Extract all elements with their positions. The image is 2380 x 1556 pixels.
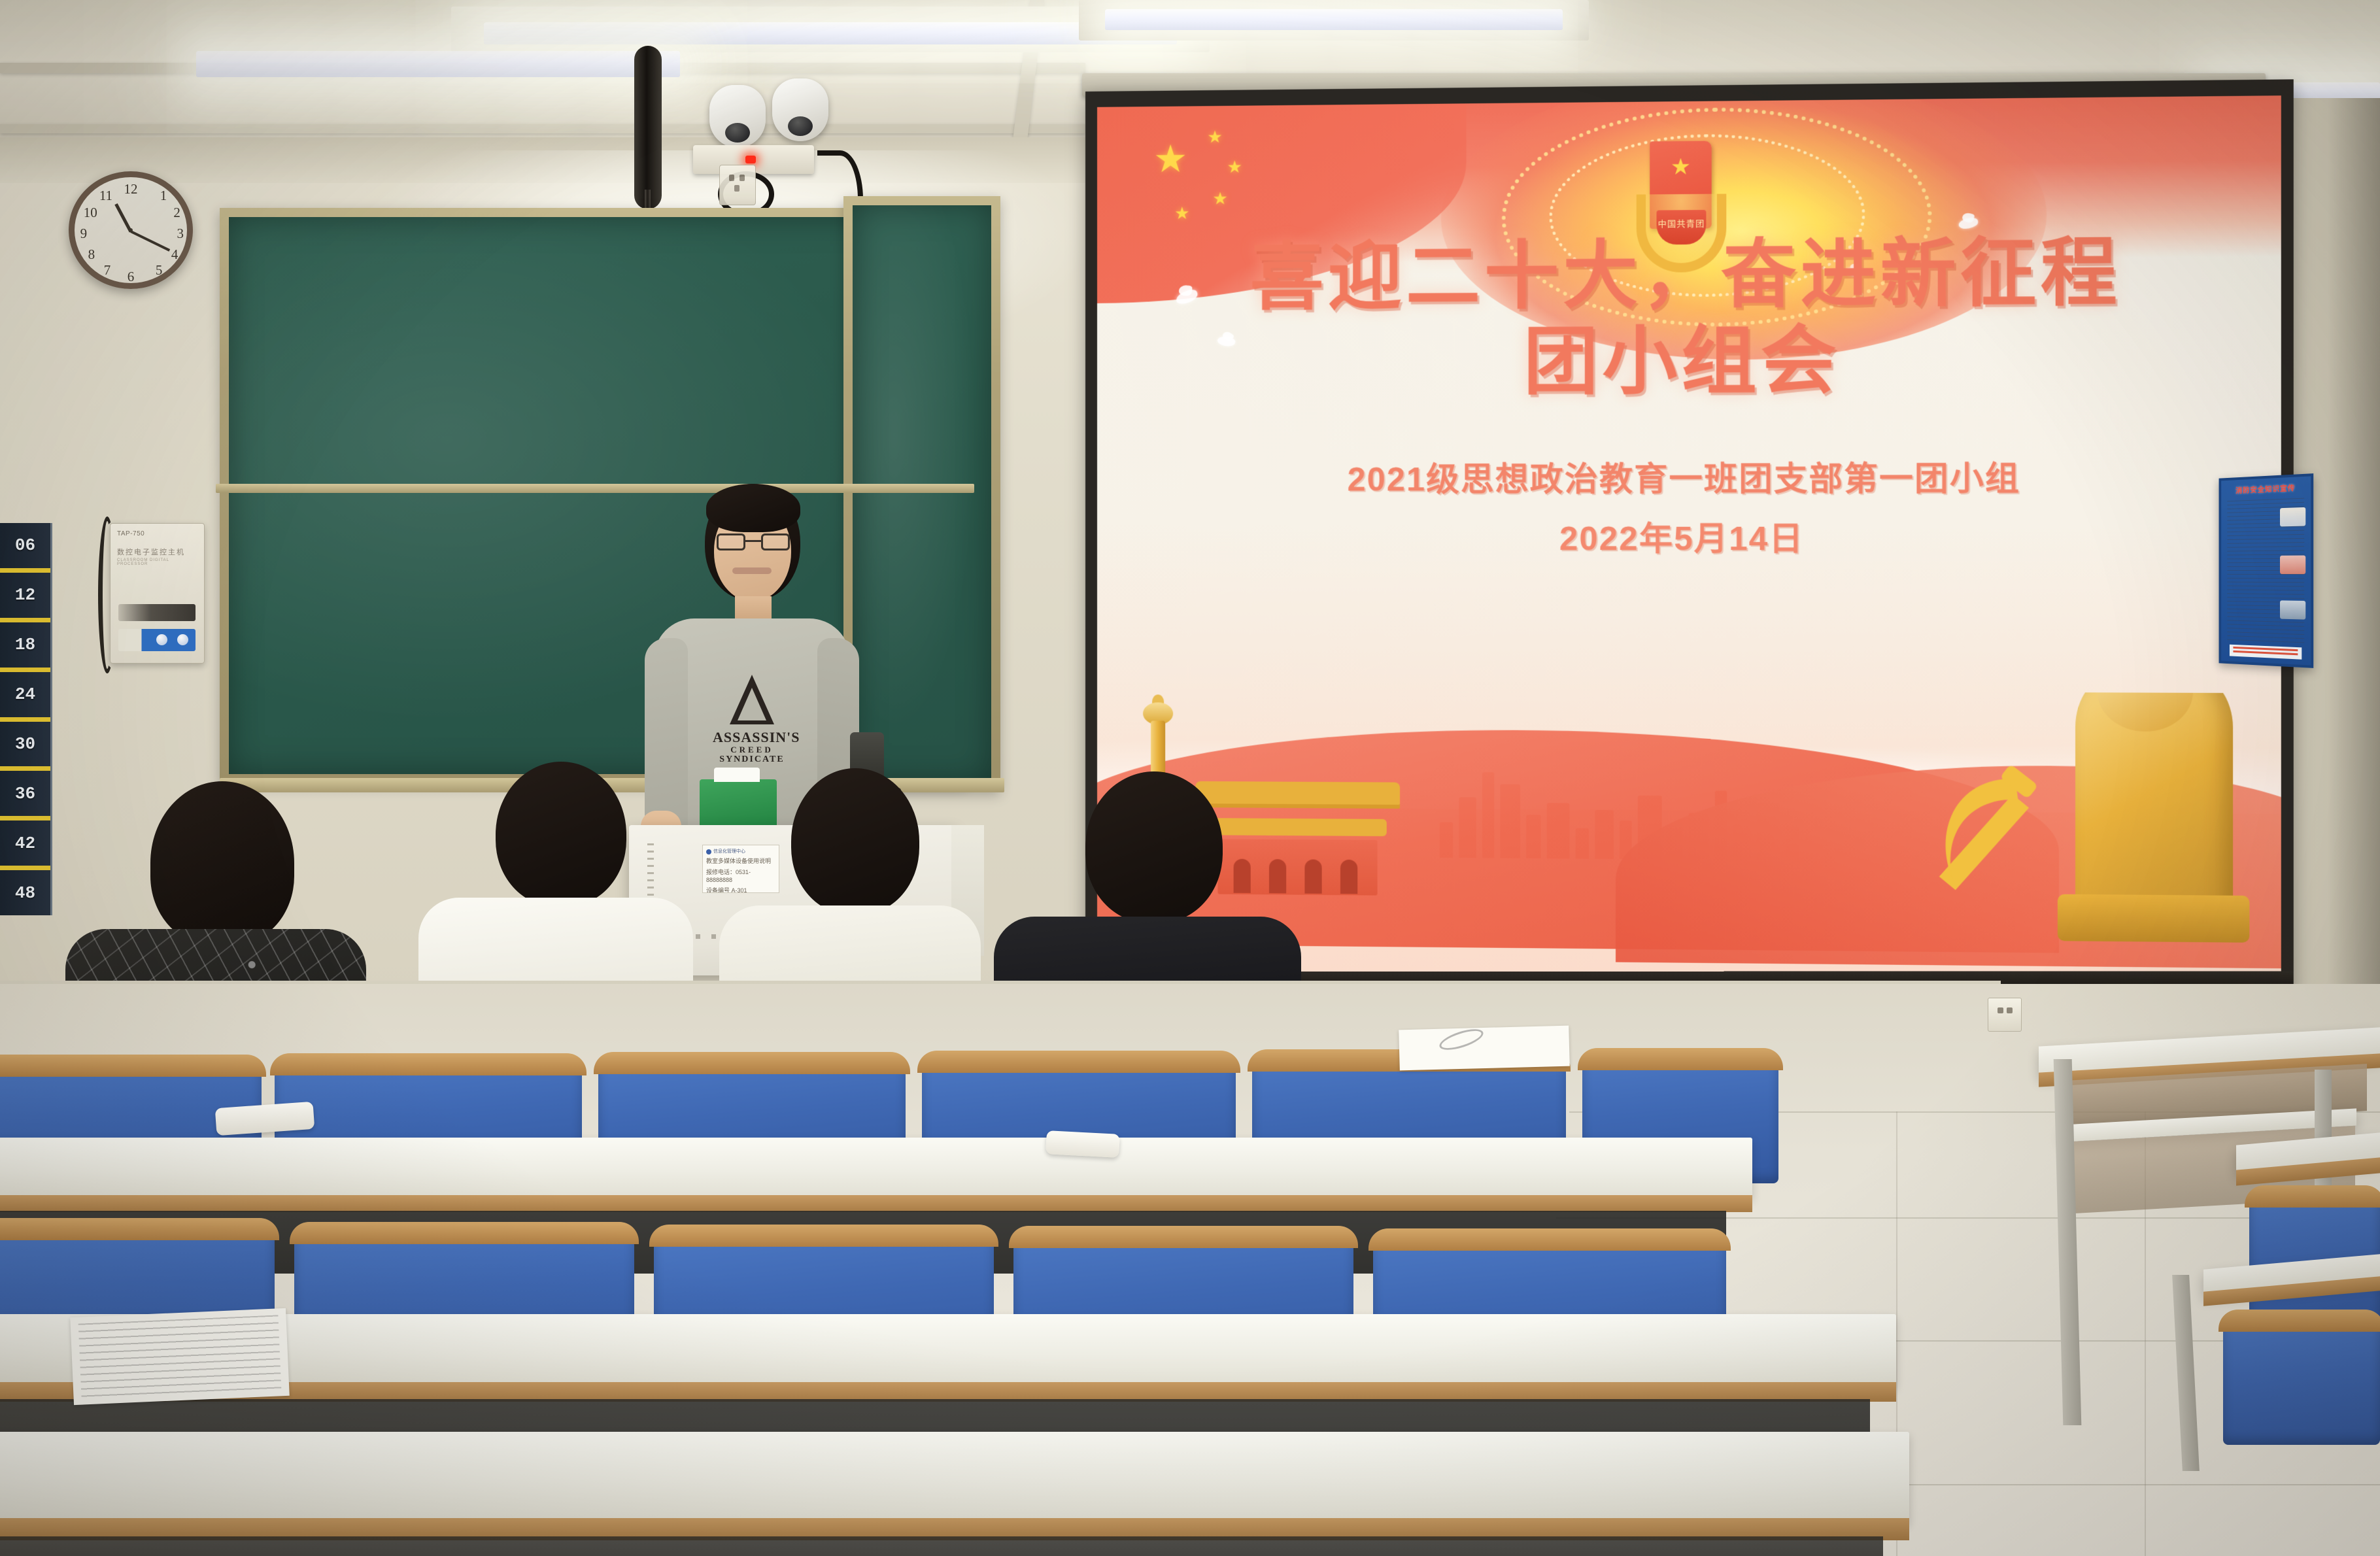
seat-trim xyxy=(2218,1310,2380,1332)
av-wall-panel[interactable]: TAP-750 数控电子监控主机 CLASSROOM DIGITAL PROCE… xyxy=(110,523,205,664)
flag-big-star-icon: ★ xyxy=(1153,141,1187,179)
seat-number: 36 xyxy=(0,771,50,820)
blackboard-middle xyxy=(843,196,1000,791)
presenter-hair-front xyxy=(706,484,800,532)
power-outlet xyxy=(719,165,756,205)
clock-numeral: 10 xyxy=(84,205,97,221)
slide-date: 2022年5月14日 xyxy=(1097,512,2281,560)
audience-1-head xyxy=(150,781,294,945)
panel-model-label: TAP-750 xyxy=(117,530,197,537)
clock-numeral: 4 xyxy=(171,246,178,263)
safety-poster: 消防安全知识宣传 xyxy=(2219,473,2314,668)
desk-row-1-top xyxy=(0,1138,1752,1198)
wall-clock: 12 1 2 3 4 5 6 7 8 9 10 11 xyxy=(69,171,193,289)
panel-display-screen xyxy=(118,604,195,621)
shirt-brand-line2: CREED xyxy=(713,745,791,754)
clock-numeral: 9 xyxy=(80,226,88,242)
slide-title-line2: 团小组会 xyxy=(1097,316,2281,407)
clock-numeral: 8 xyxy=(88,246,95,263)
rolled-paper[interactable] xyxy=(1045,1130,1120,1158)
slide-title-line1: 喜迎二十大，奋进新征程 xyxy=(1097,228,2281,321)
shirt-brand-line1: ASSASSIN'S xyxy=(713,729,800,745)
panel-knob[interactable] xyxy=(156,634,167,645)
stone-lion-graphic xyxy=(2075,689,2233,943)
panel-chinese-label: 数控电子监控主机 xyxy=(117,547,197,557)
desk-row-1-edge xyxy=(0,1195,1752,1212)
seat-number: 18 xyxy=(0,622,50,672)
slide-subtitle: 2021级思想政治教育一班团支部第一团小组 xyxy=(1097,451,2281,501)
ceiling-light xyxy=(484,22,1177,44)
security-cameras xyxy=(709,78,850,150)
clock-numeral: 12 xyxy=(124,181,138,197)
seat-trim xyxy=(290,1222,639,1244)
clock-numeral: 2 xyxy=(173,205,180,221)
seat-number: 24 xyxy=(0,672,50,722)
seat-number: 06 xyxy=(0,523,50,573)
seat-trim xyxy=(1009,1226,1358,1248)
seat-number-strip: 06 12 18 24 30 36 42 48 xyxy=(0,523,52,915)
boom-microphone xyxy=(634,46,662,209)
ceiling-beam xyxy=(0,124,1085,133)
clock-numeral: 7 xyxy=(104,262,111,279)
desk-row-3-top xyxy=(0,1432,1909,1523)
hammer-sickle-icon xyxy=(1912,758,2048,900)
clock-numeral: 3 xyxy=(177,226,184,242)
label-logo-icon xyxy=(706,849,711,854)
assassins-creed-mark-inner xyxy=(738,688,766,720)
poster-title: 消防安全知识宣传 xyxy=(2225,481,2307,499)
shirt-brand-line3: SYNDICATE xyxy=(713,754,791,764)
audience-2-head xyxy=(496,762,626,907)
poster-illustration xyxy=(2280,507,2305,527)
poster-illustration xyxy=(2280,600,2305,619)
flag-small-star-icon: ★ xyxy=(1207,128,1222,145)
classroom-scene: 12 1 2 3 4 5 6 7 8 9 10 11 xyxy=(0,0,2380,1556)
wall-power-outlet xyxy=(1988,998,2022,1032)
platform-paper[interactable] xyxy=(1399,1026,1570,1071)
seat-number: 12 xyxy=(0,573,50,622)
emblem-star-icon: ★ xyxy=(1671,156,1691,178)
clock-numeral: 5 xyxy=(156,262,163,279)
audience-4-head xyxy=(1085,771,1223,923)
seat-trim xyxy=(594,1052,910,1074)
seat-number: 42 xyxy=(0,820,50,870)
flag-small-star-icon: ★ xyxy=(1212,190,1227,207)
assassins-creed-logo-icon: ASSASSIN'S CREED SYNDICATE xyxy=(713,675,791,765)
glasses-icon xyxy=(717,533,790,550)
seat-trim xyxy=(917,1051,1240,1073)
poster-illustration xyxy=(2280,555,2305,574)
seat-trim xyxy=(0,1218,279,1240)
seat-number: 48 xyxy=(0,870,50,915)
security-camera-icon xyxy=(709,85,766,148)
shirt-brand-text: ASSASSIN'S CREED SYNDICATE xyxy=(713,730,791,765)
seat-trim xyxy=(2245,1185,2380,1208)
handout-paper[interactable] xyxy=(70,1308,290,1405)
clock-numeral: 11 xyxy=(99,188,112,204)
blackboard-surface xyxy=(853,205,991,782)
seat-trim xyxy=(1578,1048,1783,1070)
right-wall-shadow xyxy=(2328,98,2380,1118)
security-camera-icon xyxy=(772,78,828,141)
slide-title: 喜迎二十大，奋进新征程 团小组会 xyxy=(1097,228,2281,406)
ceiling-light xyxy=(196,51,680,77)
emblem-label: 中国共青团 xyxy=(1656,210,1706,229)
side-seat-2[interactable] xyxy=(2223,1314,2380,1445)
seat-trim xyxy=(649,1225,998,1247)
clock-numeral: 1 xyxy=(160,188,167,204)
panel-english-label: CLASSROOM DIGITAL PROCESSOR xyxy=(117,558,197,566)
seat-trim xyxy=(270,1053,586,1075)
blackboard-divider-rail xyxy=(216,484,974,493)
seat-trim xyxy=(0,1055,266,1077)
flag-small-star-icon: ★ xyxy=(1227,158,1242,175)
panel-button-strip[interactable] xyxy=(118,629,195,651)
panel-knob[interactable] xyxy=(177,634,188,645)
seat-trim xyxy=(1368,1228,1731,1251)
flag-small-star-icon: ★ xyxy=(1174,205,1189,222)
desk-row-3-underside xyxy=(0,1536,1883,1556)
poster-footer xyxy=(2230,645,2302,660)
presenter-mouth xyxy=(732,567,772,574)
audience-3-head xyxy=(791,768,919,915)
ceiling-light xyxy=(1105,9,1563,30)
clock-face: 12 1 2 3 4 5 6 7 8 9 10 11 xyxy=(75,177,187,283)
paper-text-lines xyxy=(78,1315,282,1398)
clock-numeral: 6 xyxy=(127,269,135,285)
status-led-indicator xyxy=(745,156,756,163)
seat-number: 30 xyxy=(0,722,50,771)
panel-cable xyxy=(98,516,116,673)
